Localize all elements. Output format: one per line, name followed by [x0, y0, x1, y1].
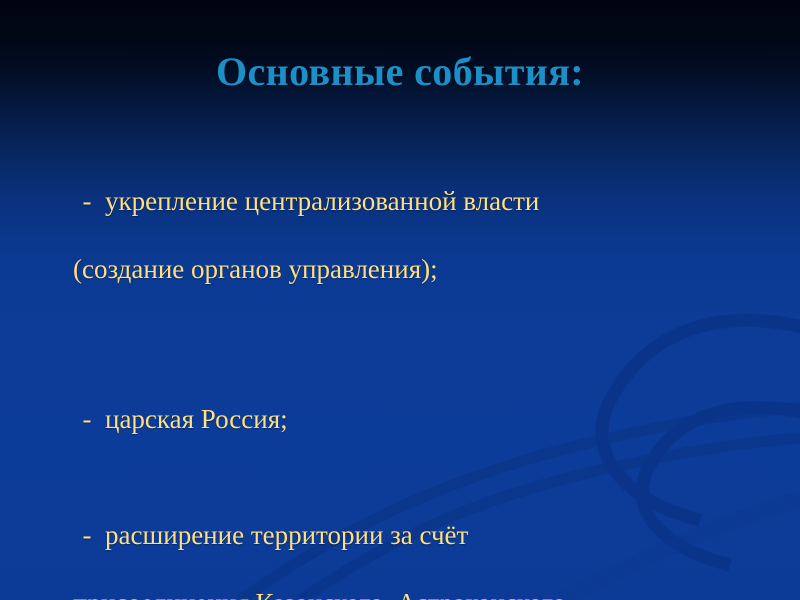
bullet-line-continuation: (создание органов управления);: [42, 252, 722, 286]
bullet-line: - укрепление централизованной власти: [83, 186, 540, 216]
slide-title: Основные события:: [0, 50, 800, 95]
bullet-line: - царская Россия;: [83, 404, 288, 434]
bullet-item-2: - царская Россия;: [42, 368, 722, 470]
bullet-item-1: - укрепление централизованной власти (со…: [42, 150, 722, 354]
presentation-slide: Основные события: - укрепление централиз…: [0, 0, 800, 600]
bullet-line-continuation: присоединения Казанского, Астраханского,: [42, 586, 722, 600]
bullet-list: - укрепление централизованной власти (со…: [42, 150, 722, 600]
bullet-item-3: - расширение территории за счёт присоеди…: [42, 484, 722, 600]
bullet-line: - расширение территории за счёт: [83, 520, 469, 550]
